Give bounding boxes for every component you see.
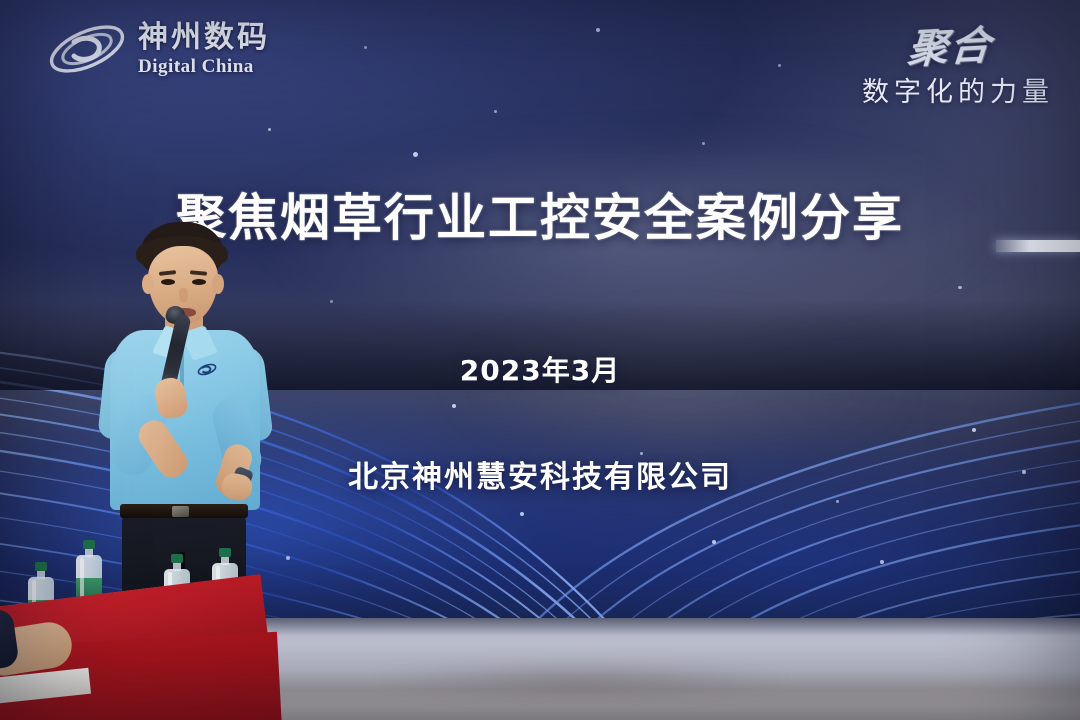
speaker-eye-right bbox=[192, 279, 206, 285]
slogan-brush-text: 聚合 bbox=[860, 13, 995, 78]
speaker-eye-left bbox=[161, 279, 175, 285]
speaker-figure bbox=[96, 222, 286, 622]
event-slogan: 聚合 数字化的力量 bbox=[862, 16, 1054, 109]
speaker-nose bbox=[179, 288, 188, 303]
conference-photo: 神州数码 Digital China 聚合 数字化的力量 聚焦烟草行业工控安全案… bbox=[0, 0, 1080, 720]
digital-china-logo: 神州数码 Digital China bbox=[44, 18, 270, 80]
swirl-galaxy-icon bbox=[44, 18, 130, 80]
shirt-logo-icon bbox=[196, 362, 218, 377]
speaker-ear-left bbox=[142, 274, 154, 294]
audience-member bbox=[0, 608, 90, 720]
speaker-belt-buckle bbox=[172, 506, 189, 517]
logo-english-text: Digital China bbox=[138, 57, 270, 76]
slogan-subtitle: 数字化的力量 bbox=[862, 70, 1054, 109]
speaker-ear-right bbox=[212, 274, 224, 294]
stage-floor-reflection bbox=[300, 660, 860, 700]
logo-chinese-text: 神州数码 bbox=[138, 23, 270, 53]
